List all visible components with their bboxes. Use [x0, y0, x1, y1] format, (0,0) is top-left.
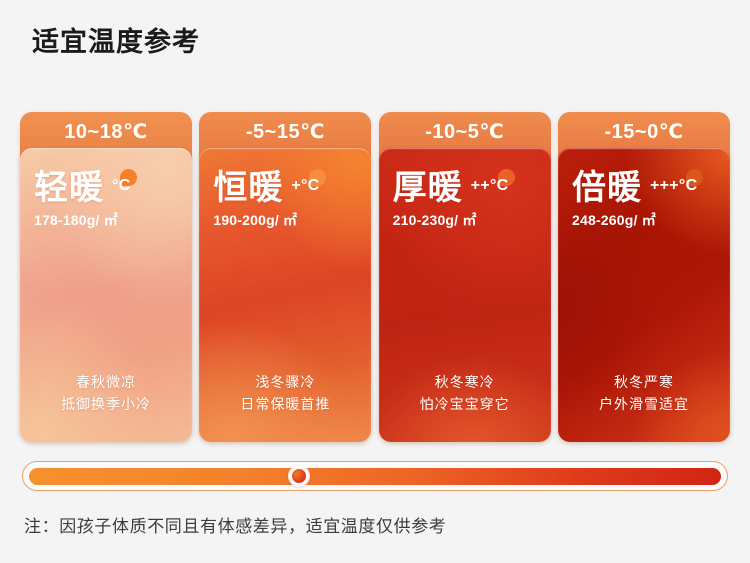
card-description-line-1: 秋冬严寒 [558, 371, 730, 394]
card-main-info: 倍暖 +++°C 248-260g/ ㎡ [572, 170, 720, 230]
card-description: 秋冬寒冷 怕冷宝宝穿它 [379, 371, 551, 416]
slider-track[interactable] [29, 468, 721, 485]
card-description-line-2: 怕冷宝宝穿它 [379, 393, 551, 416]
card-badge: +°C [291, 177, 319, 195]
card-description: 浅冬骤冷 日常保暖首推 [199, 371, 371, 416]
card-temp-range-label: 10~18℃ [64, 119, 147, 144]
card-badge: +++°C [650, 177, 697, 195]
card-description-line-2: 日常保暖首推 [199, 393, 371, 416]
card-temp-range-label: -15~0℃ [605, 119, 684, 144]
card-badge-label: +°C [291, 177, 319, 194]
card-badge-label: °C [112, 177, 131, 194]
card-grade-line: 恒暖 +°C [213, 170, 361, 207]
card-badge-label: +++°C [650, 177, 697, 194]
card-grade-line: 厚暖 ++°C [393, 170, 541, 207]
card-main-info: 厚暖 ++°C 210-230g/ ㎡ [393, 170, 541, 230]
temperature-card[interactable]: -10~5℃ 厚暖 ++°C 210-230g/ ㎡ 秋冬寒冷 怕冷宝宝穿它 [379, 112, 551, 442]
card-body: 轻暖 °C 178-180g/ ㎡ 春秋微凉 抵御换季小冷 [20, 148, 192, 442]
card-badge: ++°C [471, 177, 509, 195]
card-grade-name: 厚暖 [393, 170, 463, 207]
card-description-line-2: 抵御换季小冷 [20, 393, 192, 416]
card-weight-label: 190-200g/ ㎡ [213, 210, 361, 230]
slider-knob[interactable] [289, 466, 309, 486]
card-main-info: 轻暖 °C 178-180g/ ㎡ [34, 170, 182, 230]
card-body: 倍暖 +++°C 248-260g/ ㎡ 秋冬严寒 户外滑雪适宜 [558, 148, 730, 442]
card-grade-name: 恒暖 [213, 170, 283, 207]
page-title: 适宜温度参考 [32, 26, 200, 58]
temperature-card-list: 10~18℃ 轻暖 °C 178-180g/ ㎡ 春秋微凉 抵御换季小冷 [20, 112, 730, 442]
temperature-card[interactable]: -5~15℃ 恒暖 +°C 190-200g/ ㎡ 浅冬骤冷 日常保暖首推 [199, 112, 371, 442]
card-grade-name: 轻暖 [34, 170, 104, 207]
card-description: 秋冬严寒 户外滑雪适宜 [558, 371, 730, 416]
card-weight-label: 210-230g/ ㎡ [393, 210, 541, 230]
card-grade-name: 倍暖 [572, 170, 642, 207]
card-grade-line: 轻暖 °C [34, 170, 182, 207]
card-description-line-1: 浅冬骤冷 [199, 371, 371, 394]
card-body: 恒暖 +°C 190-200g/ ㎡ 浅冬骤冷 日常保暖首推 [199, 148, 371, 442]
card-badge: °C [112, 177, 131, 195]
card-body: 厚暖 ++°C 210-230g/ ㎡ 秋冬寒冷 怕冷宝宝穿它 [379, 148, 551, 442]
card-temp-range-label: -5~15℃ [246, 119, 325, 144]
card-main-info: 恒暖 +°C 190-200g/ ㎡ [213, 170, 361, 230]
temperature-card[interactable]: -15~0℃ 倍暖 +++°C 248-260g/ ㎡ 秋冬严寒 户外滑雪适宜 [558, 112, 730, 442]
card-description-line-2: 户外滑雪适宜 [558, 393, 730, 416]
card-temp-range-label: -10~5℃ [425, 119, 504, 144]
card-weight-label: 248-260g/ ㎡ [572, 210, 720, 230]
warmth-slider[interactable] [22, 461, 728, 491]
card-weight-label: 178-180g/ ㎡ [34, 210, 182, 230]
footnote-text: 注：因孩子体质不同且有体感差异，适宜温度仅供参考 [24, 512, 446, 537]
card-description: 春秋微凉 抵御换季小冷 [20, 371, 192, 416]
temperature-card[interactable]: 10~18℃ 轻暖 °C 178-180g/ ㎡ 春秋微凉 抵御换季小冷 [20, 112, 192, 442]
card-grade-line: 倍暖 +++°C [572, 170, 720, 207]
card-description-line-1: 春秋微凉 [20, 371, 192, 394]
card-description-line-1: 秋冬寒冷 [379, 371, 551, 394]
card-badge-label: ++°C [471, 177, 509, 194]
